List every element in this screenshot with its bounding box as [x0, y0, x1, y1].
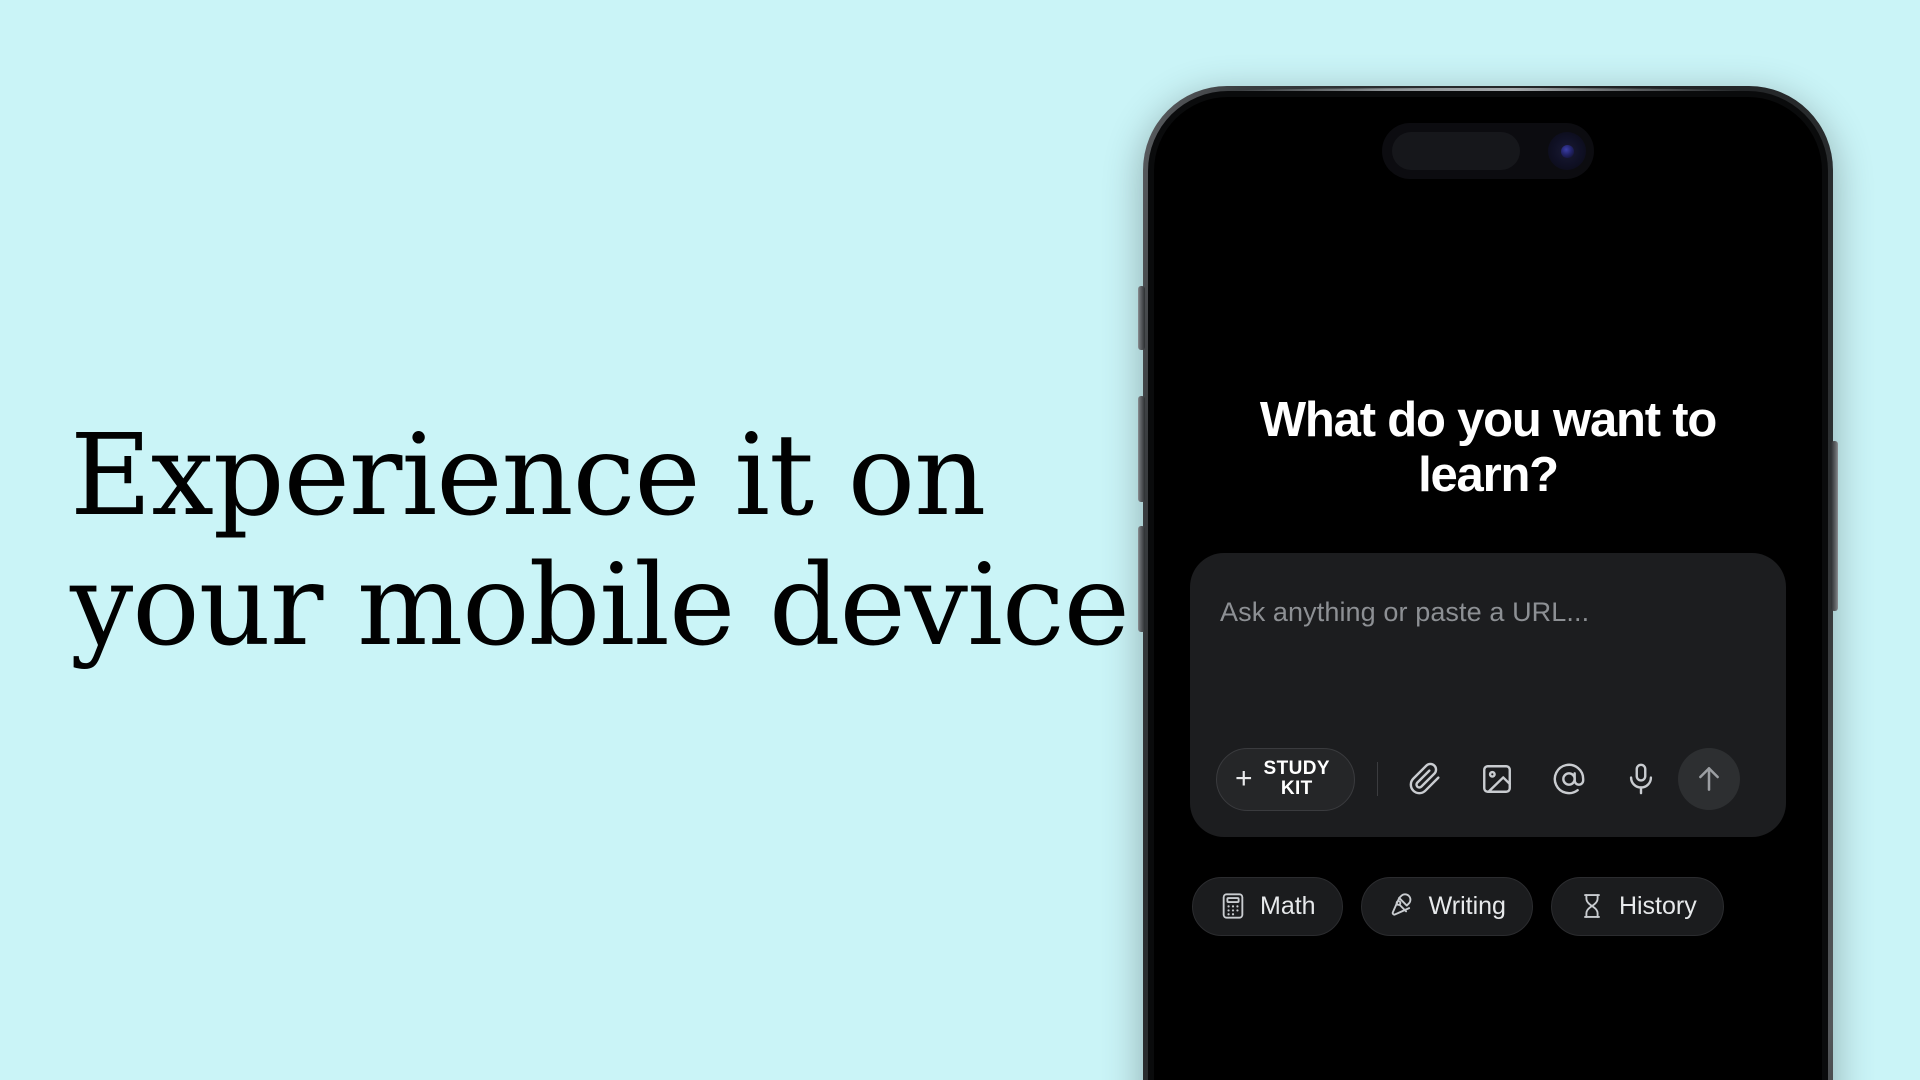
app-content: What do you want to learn? Ask anything …: [1154, 97, 1822, 1080]
chip-math[interactable]: Math: [1192, 877, 1343, 936]
study-kit-button[interactable]: + STUDY KIT: [1216, 748, 1355, 811]
pen-nib-icon: [1388, 892, 1416, 920]
page-title: Experience it on your mobile device!: [70, 412, 1130, 672]
study-kit-label-line1: STUDY: [1264, 758, 1330, 779]
toolbar-divider: [1377, 762, 1378, 796]
action-button[interactable]: [1138, 286, 1145, 350]
composer-card[interactable]: Ask anything or paste a URL... + STUDY K…: [1190, 553, 1786, 837]
study-kit-label: STUDY KIT: [1264, 759, 1330, 800]
volume-up-button[interactable]: [1138, 396, 1145, 502]
send-button[interactable]: [1678, 748, 1740, 810]
phone-mockup: What do you want to learn? Ask anything …: [1143, 86, 1833, 1080]
calculator-icon: [1219, 892, 1247, 920]
attach-icon[interactable]: [1402, 756, 1448, 802]
headline-line-2: your mobile device!: [70, 542, 1130, 672]
microphone-icon[interactable]: [1618, 756, 1664, 802]
power-button[interactable]: [1831, 441, 1838, 611]
chip-label: Math: [1260, 892, 1316, 921]
study-kit-label-line2: KIT: [1281, 778, 1313, 799]
volume-down-button[interactable]: [1138, 526, 1145, 632]
app-heading: What do you want to learn?: [1190, 393, 1786, 503]
chip-label: Writing: [1429, 892, 1506, 921]
hourglass-icon: [1578, 892, 1606, 920]
mention-icon[interactable]: [1546, 756, 1592, 802]
phone-screen: What do you want to learn? Ask anything …: [1154, 97, 1822, 1080]
chip-writing[interactable]: Writing: [1361, 877, 1533, 936]
chip-label: History: [1619, 892, 1697, 921]
headline-line-1: Experience it on: [70, 412, 1130, 542]
composer-toolbar: + STUDY KIT: [1216, 748, 1786, 811]
plus-icon: +: [1235, 764, 1253, 794]
suggestion-chips: Math Writing: [1190, 877, 1786, 936]
prompt-input[interactable]: Ask anything or paste a URL...: [1220, 597, 1756, 628]
chip-history[interactable]: History: [1551, 877, 1724, 936]
tool-icon-row: [1402, 756, 1664, 802]
image-icon[interactable]: [1474, 756, 1520, 802]
